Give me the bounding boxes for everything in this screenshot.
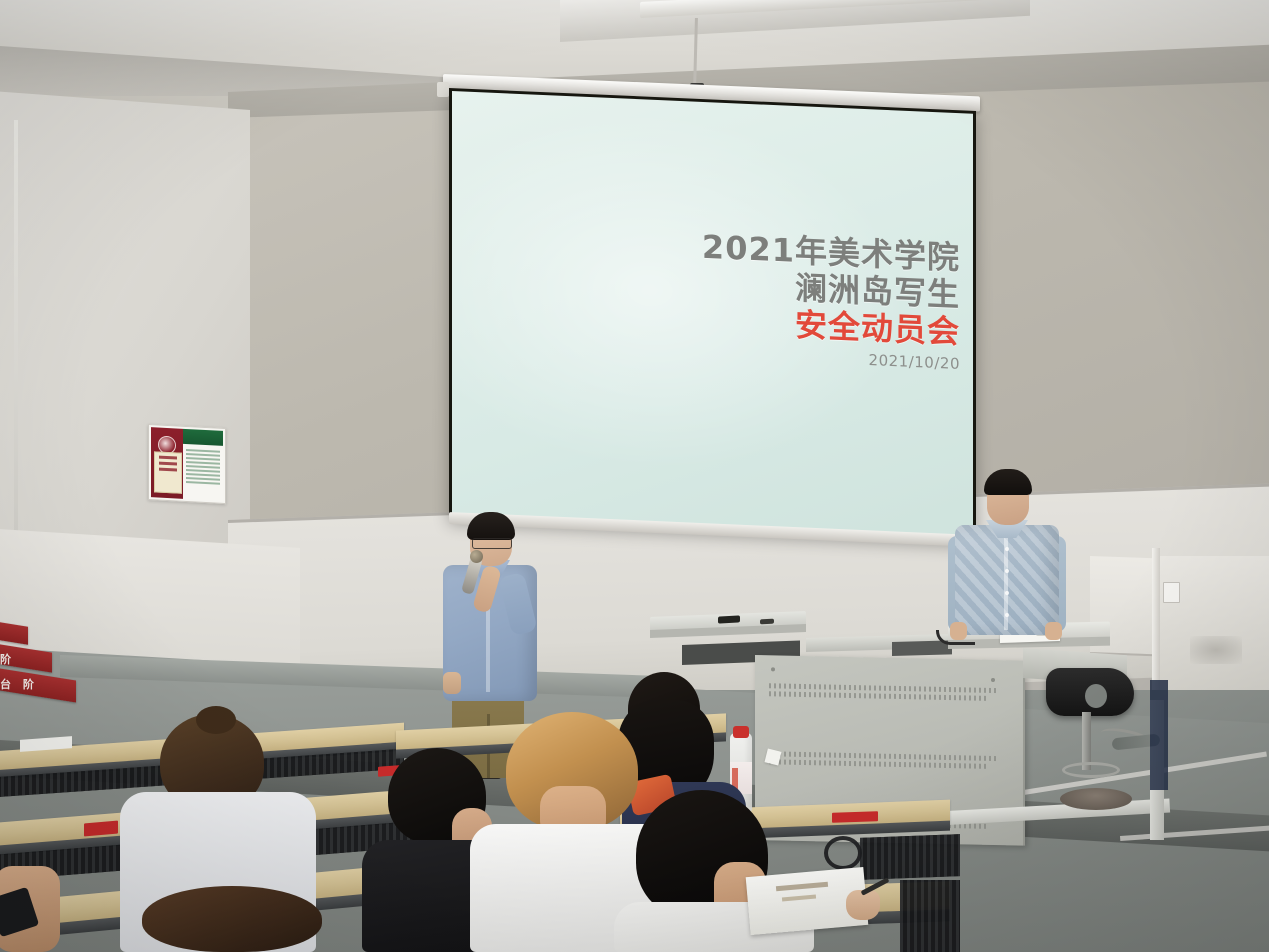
desk-sticker-3 [832,811,878,823]
step-label-1: 阶 [0,651,11,667]
poster-green-header [183,429,223,447]
desk-row2b-front [860,834,960,880]
slide-text-block: 2021年美术学院 澜洲岛写生 安全动员会 2021/10/20 [640,226,960,373]
bar-stool-seat-hole [1085,684,1107,708]
bar-stool-base [1060,788,1132,810]
bag-strap [824,836,862,870]
microphone-head [470,550,483,563]
bar-stool-footring [1062,762,1120,778]
step-label-2: 台 阶 [0,676,38,692]
poster-right-panel [183,429,223,501]
lecture-hall-photo: 2021年美术学院 澜洲岛写生 安全动员会 2021/10/20 阶 台 阶 [0,0,1269,952]
presenter1-hand-in-pocket [443,672,461,694]
right-wall-panel-b [1160,556,1269,706]
presenter2-right-hand [1045,622,1062,640]
wall-switch-plate[interactable] [1163,582,1180,603]
presenter2-shirt-placket [1004,538,1008,630]
poster-card [154,451,183,494]
presenter2-leg [1150,680,1168,790]
wall-poster [148,424,226,504]
poster-left-panel [151,427,183,499]
remote-control[interactable] [718,615,740,623]
small-desk-item[interactable] [760,619,774,625]
water-bottle-cap[interactable] [733,726,749,738]
desk-row3b-front [900,880,960,952]
student-dark-bun-topknot [196,706,236,734]
student-front-left-head [142,886,322,952]
wall-scuff-mark [1190,636,1242,664]
screen-roller-cap [437,82,449,97]
presenter1-glasses [472,538,512,549]
presenter2-left-hand [950,622,967,640]
